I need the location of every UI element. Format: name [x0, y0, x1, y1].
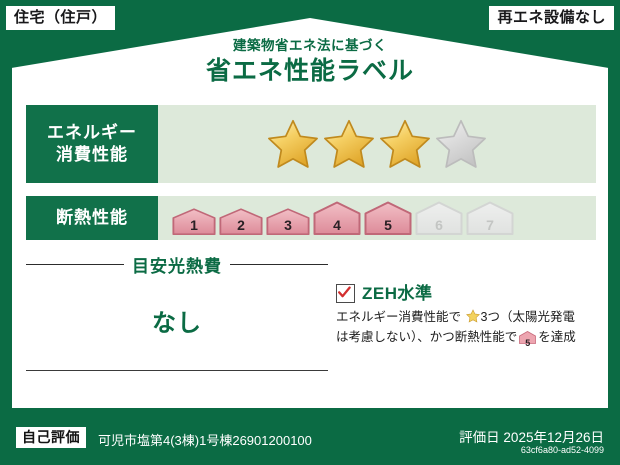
insulation-grade-scale: 1234567 — [172, 201, 514, 235]
energy-label-line1: エネルギー — [47, 122, 137, 144]
energy-label-line2: 消費性能 — [56, 144, 128, 166]
checkmark-icon — [336, 284, 355, 303]
insulation-grade-5: 5 — [364, 201, 412, 235]
self-evaluation-badge: 自己評価 — [16, 427, 86, 448]
star-icon-filled — [323, 118, 375, 170]
energy-performance-row: エネルギー 消費性能 — [26, 105, 596, 183]
zeh-description: エネルギー消費性能で 3つ（太陽光発電 は考慮しない）、かつ断熱性能で 5 を達… — [336, 308, 598, 349]
zeh-header: ZEH水準 — [336, 284, 598, 303]
zeh-desc-part3: を達成 — [538, 330, 576, 344]
page-title: 省エネ性能ラベル — [0, 56, 620, 87]
insulation-label: 断熱性能 — [56, 207, 128, 229]
label-id: 63cf6a80-ad52-4099 — [521, 445, 604, 455]
insulation-grade-number: 1 — [172, 218, 216, 232]
insulation-grade-4: 4 — [313, 201, 361, 235]
footer: 自己評価 可児市塩第4(3棟)1号棟26901200100 評価日 2025年1… — [0, 415, 620, 465]
rule-right — [230, 264, 328, 265]
star-icon-empty — [435, 118, 487, 170]
zeh-desc-stars: 3つ（太陽光発電 — [481, 310, 575, 324]
house-icon-number: 5 — [519, 339, 536, 348]
insulation-performance-label-cell: 断熱性能 — [26, 196, 158, 240]
star-icon-filled — [379, 118, 431, 170]
label-subtitle: 建築物省エネ法に基づく — [0, 38, 620, 54]
insulation-grade-2: 2 — [219, 208, 263, 235]
evaluation-date-value: 2025年12月26日 — [503, 430, 604, 445]
insulation-grade-1: 1 — [172, 208, 216, 235]
insulation-grade-3: 3 — [266, 208, 310, 235]
star-icon-inline — [462, 312, 479, 326]
energy-performance-label-cell: エネルギー 消費性能 — [26, 105, 158, 183]
insulation-grade-number: 2 — [219, 218, 263, 232]
building-type-tag: 住宅（住戸） — [6, 6, 115, 30]
energy-performance-label: 住宅（住戸） 再エネ設備なし 建築物省エネ法に基づく 省エネ性能ラベル エネルギ… — [0, 0, 620, 465]
utility-cost-bottom-rule — [26, 370, 328, 371]
house-icon-inline: 5 — [519, 331, 536, 349]
zeh-desc-part1: エネルギー消費性能で — [336, 310, 461, 324]
zeh-title: ZEH水準 — [362, 285, 433, 302]
insulation-grade-number: 5 — [364, 218, 412, 232]
insulation-performance-row: 断熱性能 1234567 — [26, 196, 596, 240]
utility-cost-block: 目安光熱費 なし — [26, 252, 328, 371]
evaluation-date-label: 評価日 — [459, 430, 500, 445]
insulation-grade-number: 6 — [415, 218, 463, 232]
rule-left — [26, 264, 124, 265]
energy-performance-value-cell — [158, 105, 596, 183]
insulation-grade-6: 6 — [415, 201, 463, 235]
title-block: 建築物省エネ法に基づく 省エネ性能ラベル — [0, 38, 620, 87]
insulation-grade-number: 3 — [266, 218, 310, 232]
star-rating — [267, 118, 487, 170]
insulation-grade-number: 7 — [466, 218, 514, 232]
utility-cost-title: 目安光熱費 — [132, 252, 222, 277]
insulation-grade-number: 4 — [313, 218, 361, 232]
property-address: 可児市塩第4(3棟)1号棟26901200100 — [98, 430, 312, 449]
evaluation-date: 評価日 2025年12月26日 — [459, 426, 604, 446]
zeh-block: ZEH水準 エネルギー消費性能で 3つ（太陽光発電 は考慮しない）、かつ断熱性能… — [336, 284, 598, 349]
star-icon-filled — [267, 118, 319, 170]
insulation-performance-value-cell: 1234567 — [158, 196, 596, 240]
utility-cost-value: なし — [26, 303, 328, 338]
renewable-energy-tag: 再エネ設備なし — [489, 6, 614, 30]
zeh-desc-part2: は考慮しない）、かつ断熱性能で — [336, 330, 517, 344]
utility-cost-header: 目安光熱費 — [26, 252, 328, 277]
insulation-grade-7: 7 — [466, 201, 514, 235]
